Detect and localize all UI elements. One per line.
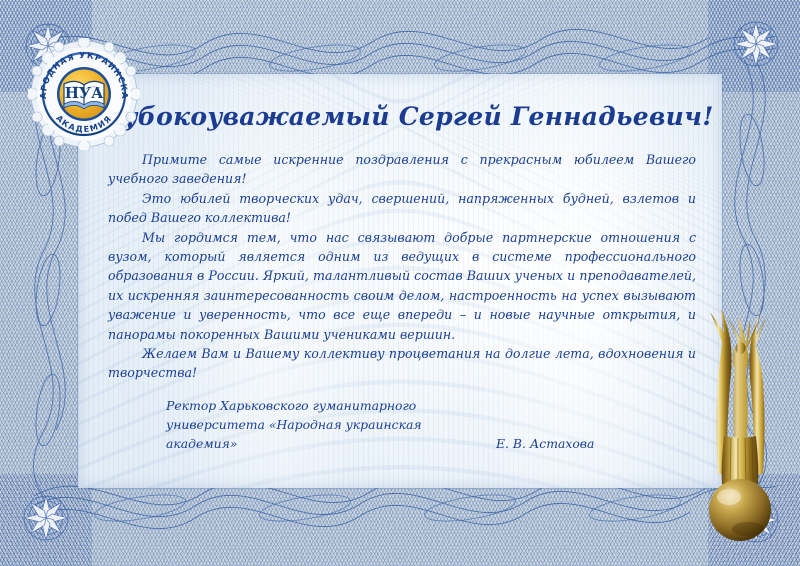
paragraph-1: Примите самые искренние поздравления с п… <box>108 150 696 189</box>
signatory-name: Е. В. Астахова <box>496 434 594 453</box>
statuette-sphere-shadow <box>732 522 764 536</box>
signatory-role: Ректор Харьковского гуманитарного универ… <box>166 396 686 453</box>
naua-emblem: НАРОДНАЯ УКРАИНСКАЯ АКАДЕМИЯ НУА <box>28 38 140 150</box>
paragraph-4: Желаем Вам и Вашему коллективу процветан… <box>108 344 696 383</box>
paragraph-3: Мы гордимся тем, что нас связывают добры… <box>108 228 696 344</box>
signature-block: Ректор Харьковского гуманитарного универ… <box>166 396 686 453</box>
address-body: Примите самые искренние поздравления с п… <box>108 150 696 383</box>
statuette-head <box>736 342 746 354</box>
statuette-sphere-highlight <box>717 489 741 505</box>
certificate-content: Глубокоуважаемый Сергей Геннадьевич! При… <box>78 74 722 488</box>
emblem-monogram: НУА <box>65 84 104 102</box>
paragraph-2: Это юбилей творческих удач, свершений, н… <box>108 189 696 228</box>
page-title: Глубокоуважаемый Сергей Геннадьевич! <box>78 102 722 131</box>
golden-award-statuette <box>688 286 792 544</box>
certificate-page: Глубокоуважаемый Сергей Геннадьевич! При… <box>0 0 800 566</box>
inner-panel: Глубокоуважаемый Сергей Геннадьевич! При… <box>78 74 722 488</box>
